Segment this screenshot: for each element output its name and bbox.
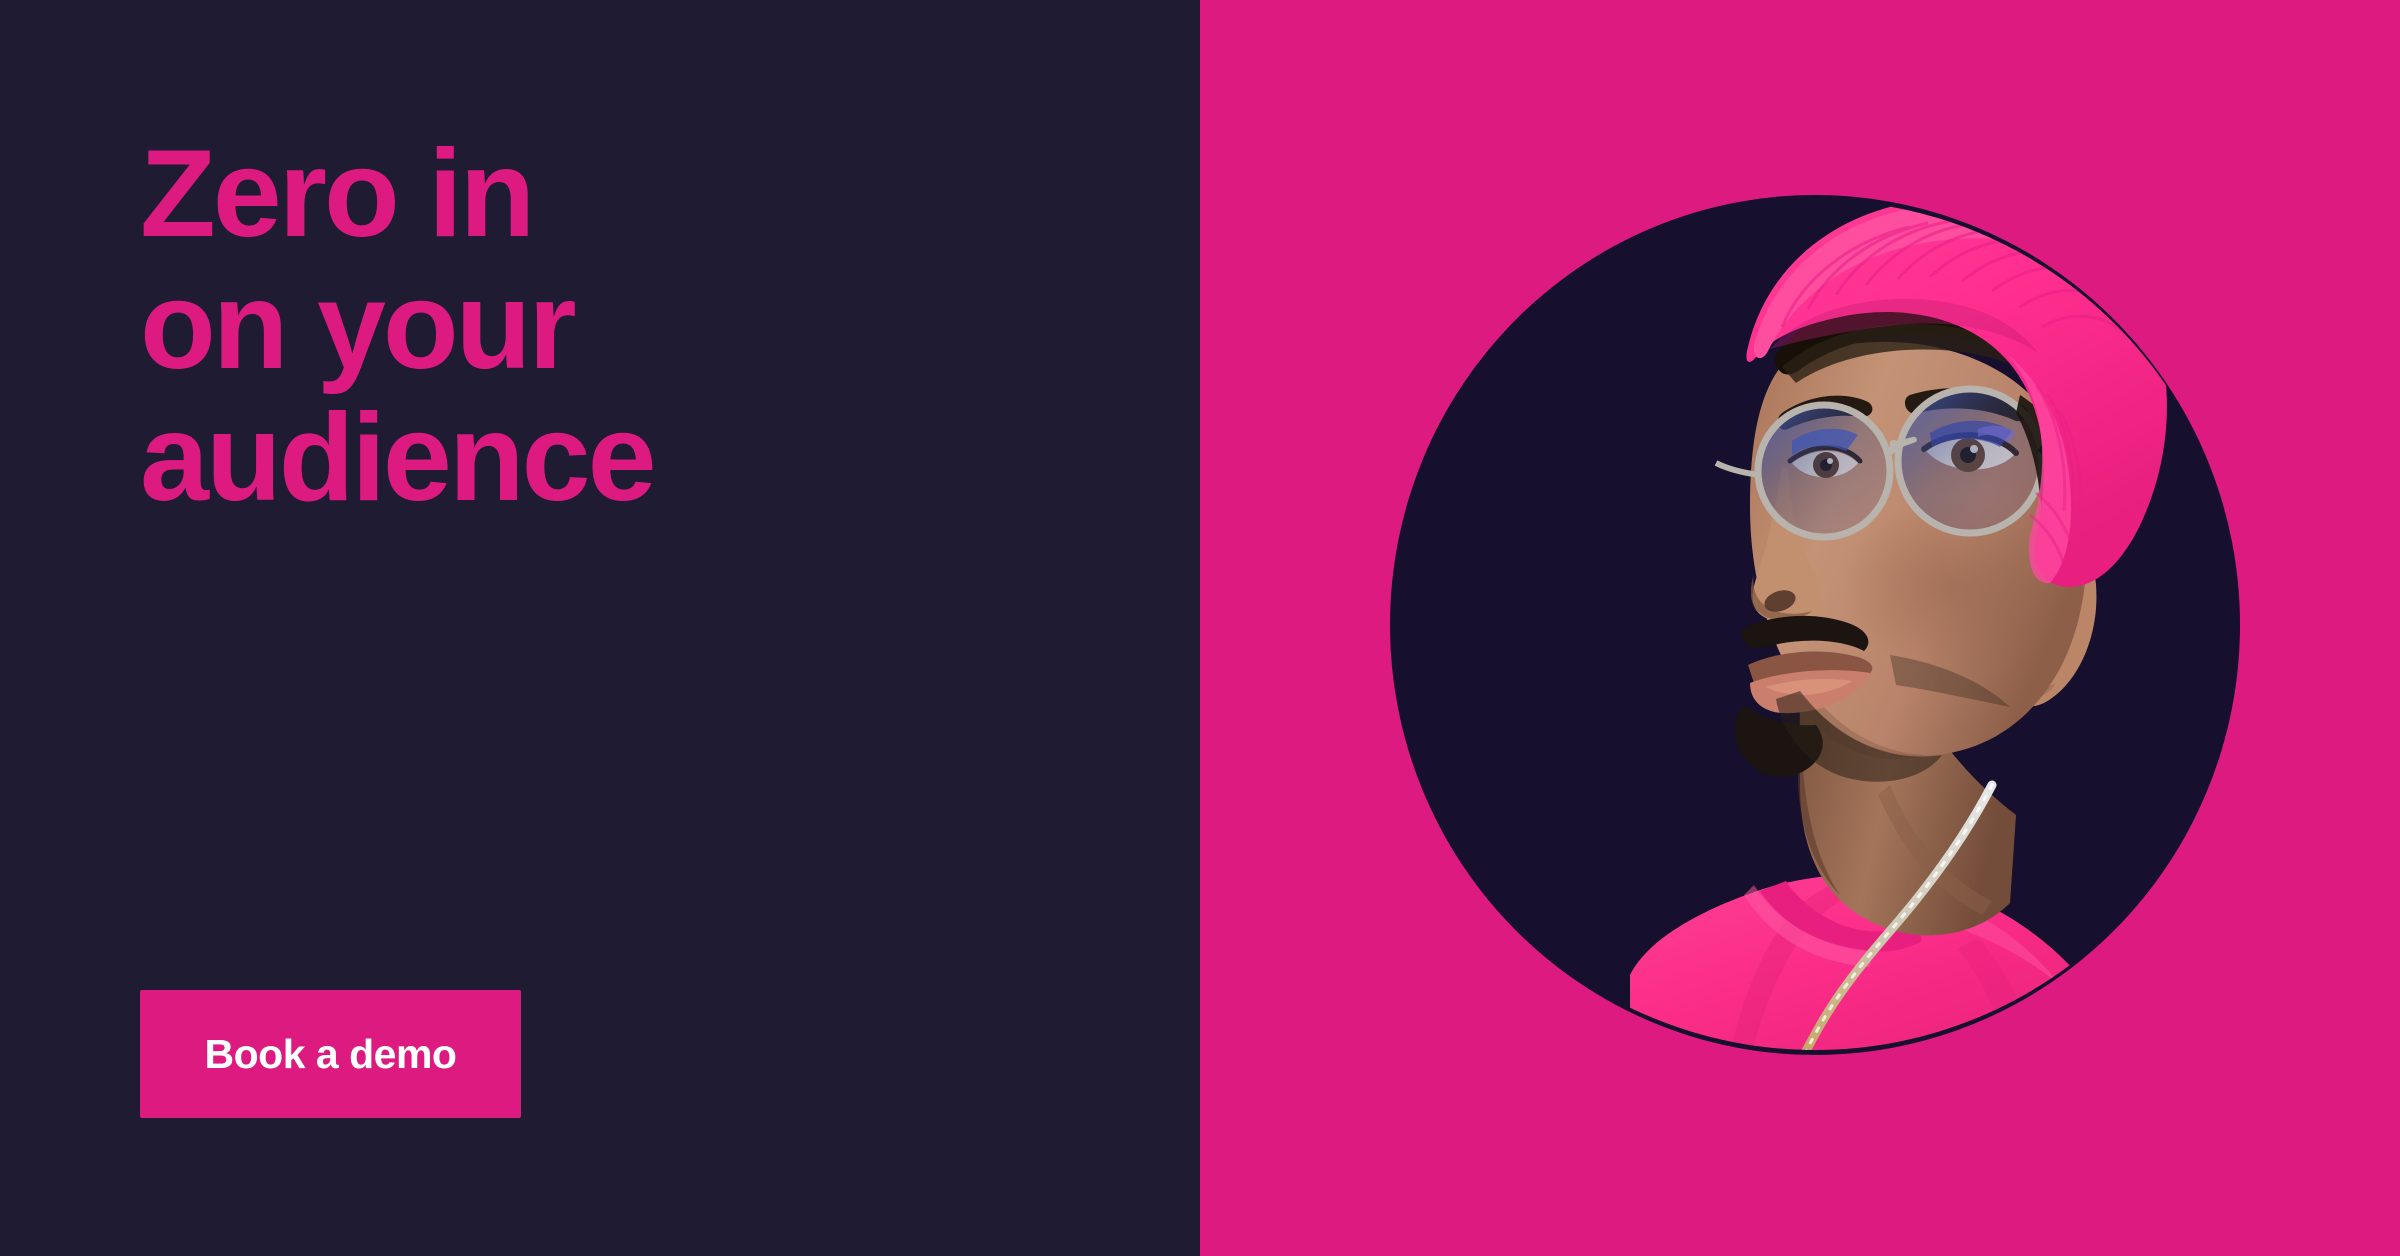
book-a-demo-button[interactable]: Book a demo bbox=[140, 990, 521, 1118]
portrait-photo bbox=[1330, 95, 2310, 1105]
right-panel bbox=[1200, 0, 2400, 1256]
headline-line-3: audience bbox=[140, 392, 654, 524]
headline-line-2: on your bbox=[140, 260, 654, 392]
portrait-stage bbox=[1390, 195, 2240, 1055]
page-title: Zero in on your audience bbox=[140, 128, 654, 524]
portrait-illustration bbox=[1330, 95, 2310, 1105]
hero-banner: Zero in on your audience Book a demo bbox=[0, 0, 2400, 1256]
headline-line-1: Zero in bbox=[140, 128, 654, 260]
left-panel: Zero in on your audience Book a demo bbox=[0, 0, 1200, 1256]
